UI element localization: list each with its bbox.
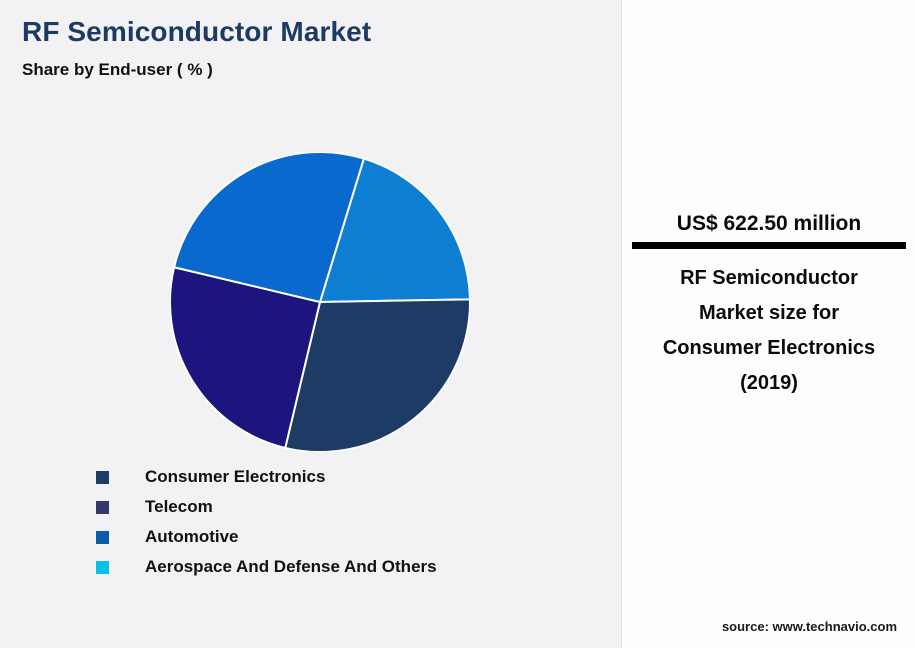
pie-chart-svg <box>170 152 470 452</box>
source-note: source: www.technavio.com <box>622 619 897 634</box>
legend-swatch-icon <box>96 471 109 484</box>
callout-description: RF Semiconductor Market size for Consume… <box>632 261 906 401</box>
legend-label: Aerospace And Defense And Others <box>145 557 437 577</box>
legend-item-consumer-electronics[interactable]: Consumer Electronics <box>96 462 596 492</box>
callout-block: US$ 622.50 million RF Semiconductor Mark… <box>632 210 906 401</box>
legend-item-telecom[interactable]: Telecom <box>96 492 596 522</box>
callout-divider <box>632 242 906 249</box>
page-title: RF Semiconductor Market <box>22 16 371 48</box>
chart-subtitle: Share by End-user ( % ) <box>22 60 213 80</box>
legend-swatch-icon <box>96 561 109 574</box>
legend-item-automotive[interactable]: Automotive <box>96 522 596 552</box>
legend-swatch-icon <box>96 501 109 514</box>
pie-chart <box>170 152 470 452</box>
infographic-root: RF Semiconductor Market Share by End-use… <box>0 0 915 648</box>
legend-label: Automotive <box>145 527 239 547</box>
legend-label: Consumer Electronics <box>145 467 325 487</box>
legend-swatch-icon <box>96 531 109 544</box>
chart-legend: Consumer Electronics Telecom Automotive … <box>96 462 596 582</box>
legend-item-aerospace-defense-others[interactable]: Aerospace And Defense And Others <box>96 552 596 582</box>
chart-panel: RF Semiconductor Market Share by End-use… <box>0 0 621 648</box>
callout-panel: US$ 622.50 million RF Semiconductor Mark… <box>621 0 915 648</box>
callout-value: US$ 622.50 million <box>632 210 906 238</box>
legend-label: Telecom <box>145 497 213 517</box>
